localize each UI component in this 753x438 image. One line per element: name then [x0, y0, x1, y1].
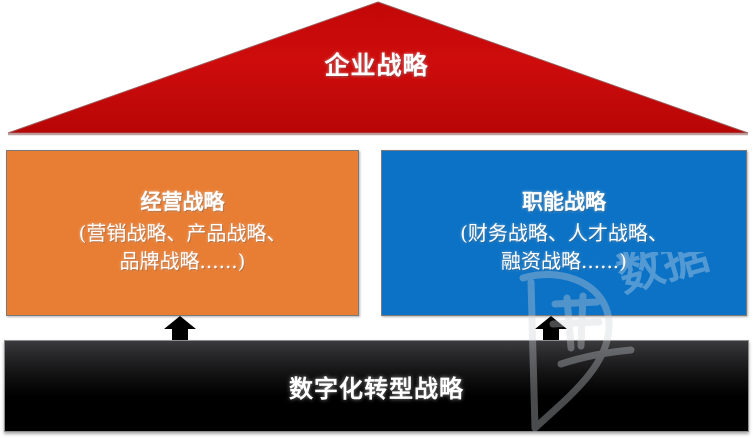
pillar-functional-strategy-subtitle: (财务战略、人才战略、 融资战略......) [436, 219, 692, 276]
pillar-functional-strategy-title: 职能战略 [522, 190, 606, 216]
foundation-label: 数字化转型战略 [289, 369, 464, 404]
foundation-digital-transformation-strategy[interactable]: 数字化转型战略 [4, 340, 749, 432]
pillar-functional-strategy[interactable]: 职能战略 (财务战略、人才战略、 融资战略......) [381, 150, 747, 316]
roof-corporate-strategy: 企业战略 [0, 0, 753, 138]
diagram-canvas: 企业战略 经营战略 (营销战略、产品战略、 品牌战略......) 职能战略 (… [0, 0, 753, 438]
pillar-business-strategy[interactable]: 经营战略 (营销战略、产品战略、 品牌战略......) [6, 150, 359, 316]
pillar-business-strategy-subtitle: (营销战略、产品战略、 品牌战略......) [65, 219, 301, 276]
roof-triangle-shape [0, 0, 753, 138]
pillar-business-strategy-title: 经营战略 [141, 190, 225, 216]
